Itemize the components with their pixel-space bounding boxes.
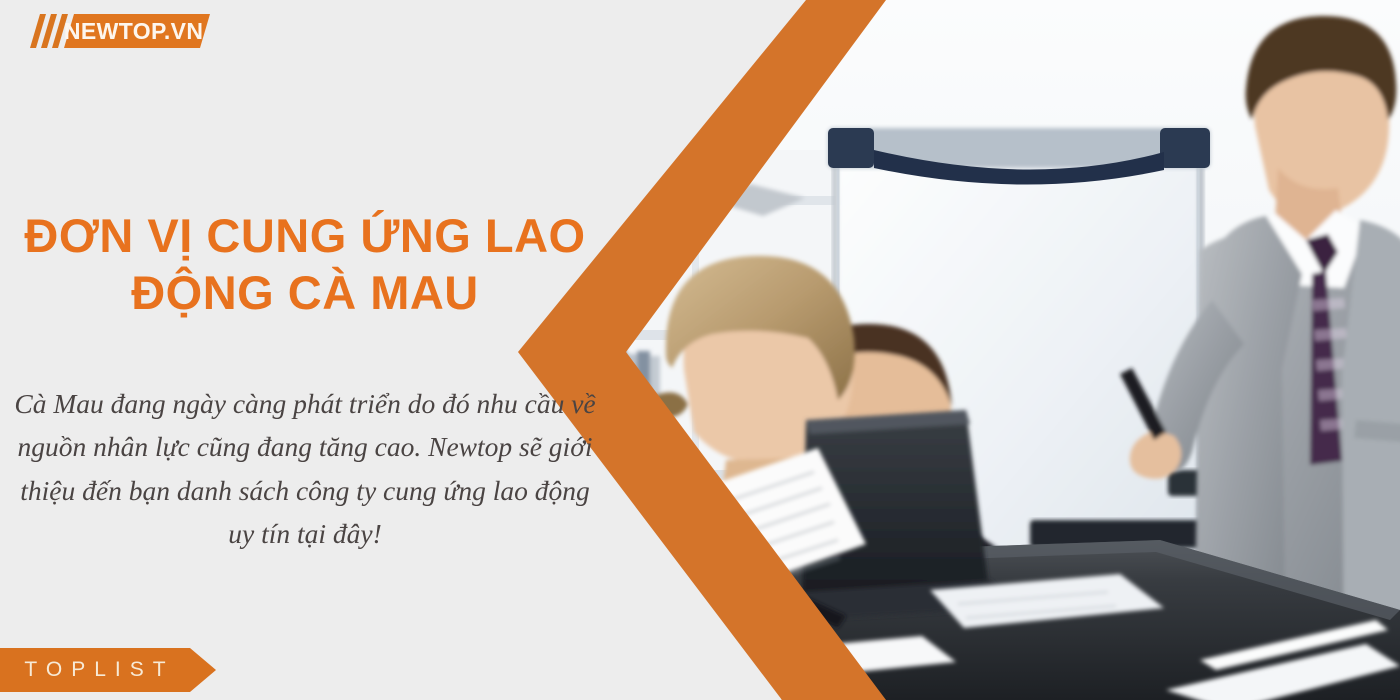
page-title-line-2: ĐỘNG CÀ MAU	[0, 264, 610, 321]
promo-banner: NEWTOP.VN ĐƠN VỊ CUNG ỨNG LAO ĐỘNG CÀ MA…	[0, 0, 1400, 700]
page-title-line-1: ĐƠN VỊ CUNG ỨNG LAO	[0, 207, 610, 264]
page-title: ĐƠN VỊ CUNG ỨNG LAO ĐỘNG CÀ MAU	[0, 207, 610, 322]
left-content-column: ĐƠN VỊ CUNG ỨNG LAO ĐỘNG CÀ MAU Cà Mau đ…	[0, 0, 610, 700]
page-description: Cà Mau đang ngày càng phát triển do đó n…	[8, 382, 602, 556]
business-meeting-photo	[600, 0, 1400, 700]
toplist-badge-label: TOPLIST	[0, 648, 190, 692]
